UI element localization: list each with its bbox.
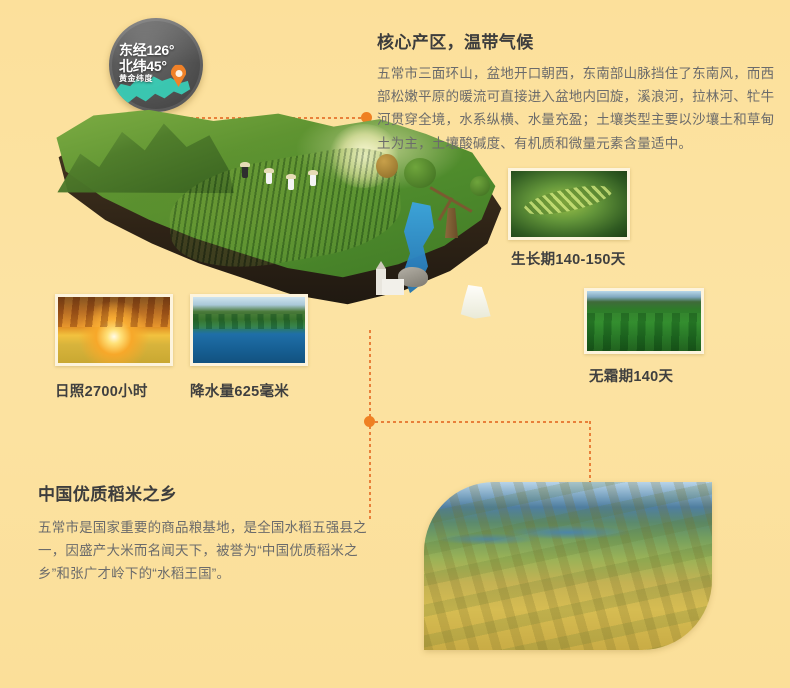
climate-section: 核心产区，温带气候 五常市三面环山，盆地开口朝西，东南部山脉挡住了东南风，而西部… [377,28,777,155]
terrain-farmer-figure [288,178,294,190]
windmill-body [445,208,458,238]
terrain-windmill-icon [436,190,466,238]
climate-body-text: 五常市三面环山，盆地开口朝西，东南部山脉挡住了东南风，而西部松嫩平原的暖流可直接… [377,62,777,155]
terrain-tree-green [404,158,436,188]
aerial-river-overlay [424,482,712,650]
terrain-tree-small [470,176,490,196]
frostfree-caption: 无霜期140天 [589,365,673,386]
sunset-over-field-image [58,297,170,363]
origin-body-text: 五常市是国家重要的商品粮基地，是全国水稻五强县之一，因盛产大米而名闻天下，被誉为… [38,516,368,586]
growth-caption: 生长期140-150天 [511,248,626,269]
badge-subtitle: 黄金纬度 [119,75,193,84]
terrain-tree-autumn [376,154,398,178]
climate-heading: 核心产区，温带气候 [377,28,777,53]
sunshine-photo [55,294,173,366]
infographic-page: 东经126° 北纬45° 黄金纬度 [0,0,790,688]
rice-ear-with-dew-image [511,171,627,237]
sunshine-caption: 日照2700小时 [55,380,148,401]
frostfree-photo [584,288,704,354]
aerial-view-of-farmland-image [424,482,712,650]
rainfall-photo [190,294,308,366]
connector-line-bottom-horizontal [369,421,591,423]
aerial-photo [424,482,712,650]
terrain-farmer-figure [266,172,272,184]
church-spire [376,261,386,269]
church-nave [382,279,404,295]
terrain-farmer-figure [310,174,316,186]
badge-longitude: 东经126° [119,43,193,59]
rainfall-caption: 降水量625毫米 [190,380,289,401]
river-and-green-land-image [193,297,305,363]
origin-section: 中国优质稻米之乡 五常市是国家重要的商品粮基地，是全国水稻五强县之一，因盛产大米… [38,480,368,586]
terrain-church-icon [376,265,404,295]
terrain-waterfall [458,285,492,319]
green-paddy-field-image [587,291,701,351]
terrain-farmer-figure [242,166,248,178]
connector-dot-origin [364,416,375,427]
badge-latitude: 北纬45° [119,59,193,75]
connector-line-bottom-vertical-right [589,421,591,483]
growth-photo [508,168,630,240]
badge-text: 东经126° 北纬45° 黄金纬度 [119,43,193,84]
origin-heading: 中国优质稻米之乡 [38,480,368,505]
badge-circle: 东经126° 北纬45° 黄金纬度 [109,18,203,112]
